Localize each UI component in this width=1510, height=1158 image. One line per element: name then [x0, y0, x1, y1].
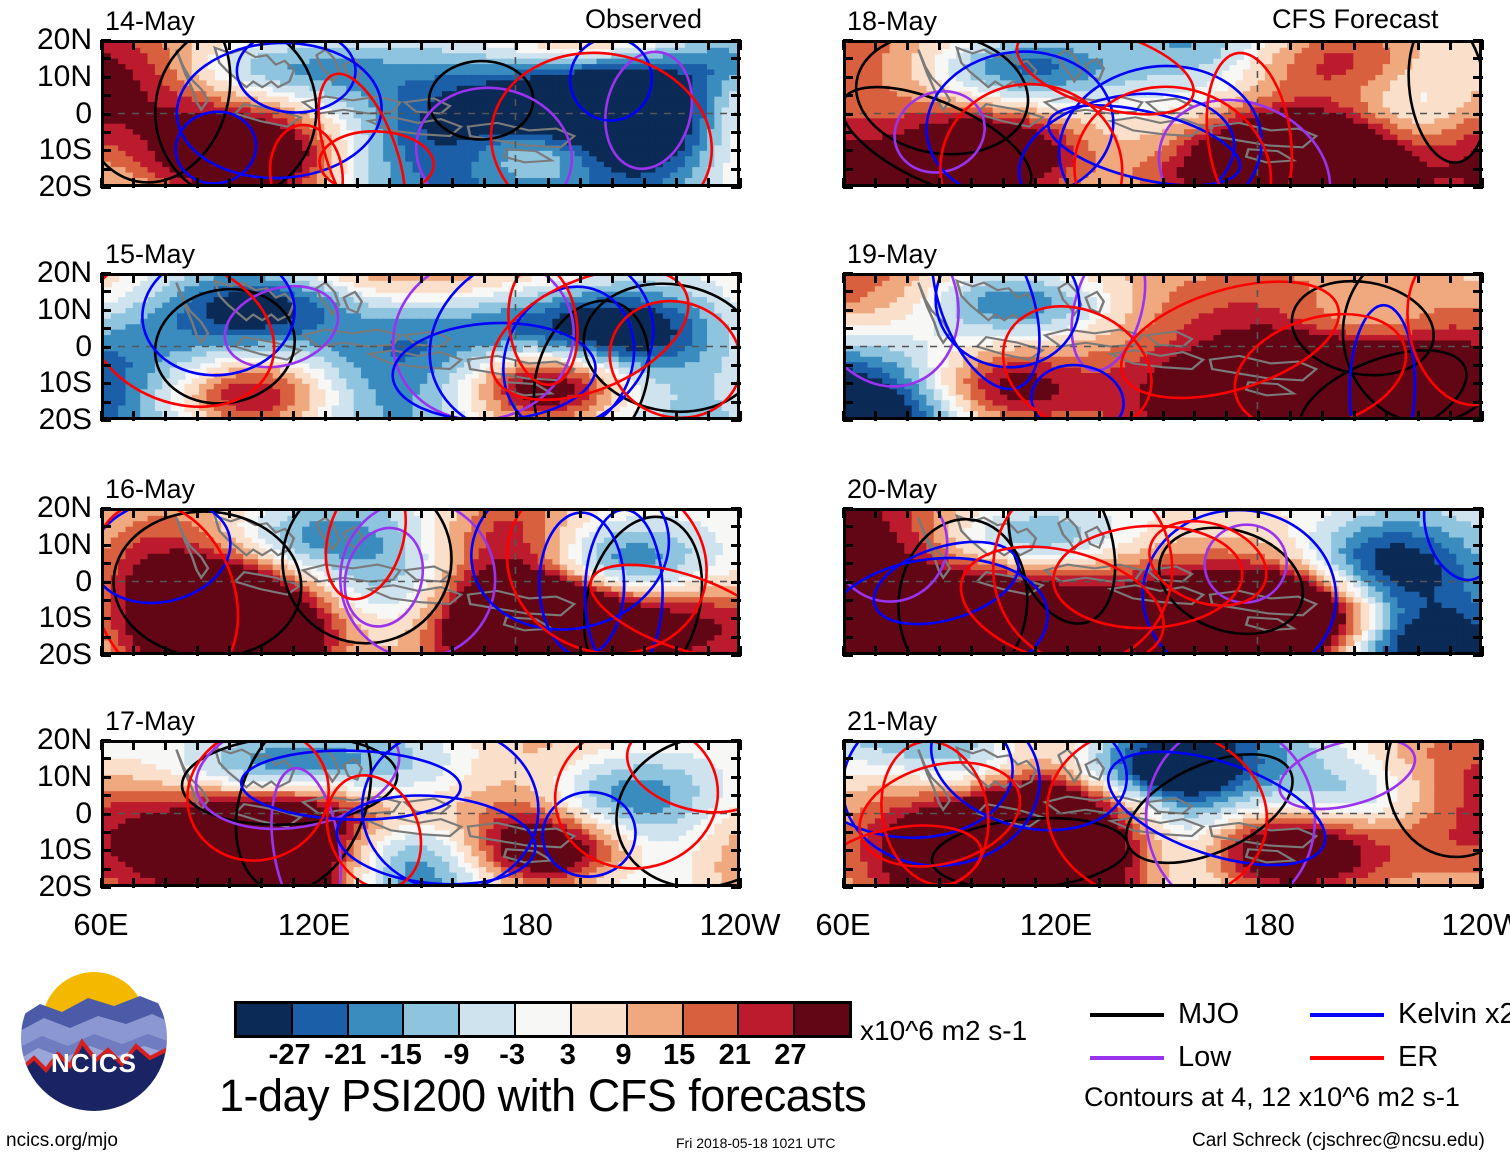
x-axis-tick	[842, 273, 845, 283]
x-axis-tick	[1481, 878, 1484, 888]
x-axis-tick	[739, 411, 742, 421]
x-axis-tick	[579, 740, 582, 750]
y-axis-tick	[1473, 290, 1483, 293]
x-axis-tick	[1034, 740, 1037, 750]
panel-date-label: 19-May	[847, 241, 937, 268]
x-axis-tick	[707, 508, 710, 518]
y-axis-tick	[101, 776, 111, 779]
y-axis-tick	[101, 149, 111, 152]
x-axis-label-180: 180	[485, 909, 569, 940]
x-axis-tick	[707, 40, 710, 50]
colorbar-tick--9: -9	[444, 1041, 470, 1070]
chart-title: 1-day PSI200 with CFS forecasts	[219, 1073, 866, 1118]
map-panel	[843, 740, 1482, 887]
x-axis-tick	[515, 508, 518, 518]
x-axis-tick	[1321, 646, 1324, 656]
x-axis-tick	[1449, 273, 1452, 283]
y-axis-tick	[843, 868, 853, 871]
x-axis-tick	[324, 740, 327, 750]
x-axis-tick	[196, 411, 199, 421]
y-axis-label-20s: 20S	[0, 405, 92, 435]
x-axis-tick	[1066, 40, 1069, 50]
x-axis-tick	[1321, 508, 1324, 518]
y-axis-label-10n: 10N	[0, 762, 92, 792]
colorbar-cell	[795, 1004, 849, 1035]
y-axis-tick	[843, 346, 853, 349]
x-axis-tick	[196, 40, 199, 50]
y-axis-label-20s: 20S	[0, 640, 92, 670]
colorbar-tick--3: -3	[499, 1041, 525, 1070]
legend-item-kelvin: Kelvin x2	[1310, 1000, 1510, 1029]
y-axis-tick	[101, 57, 111, 60]
x-axis-tick	[100, 273, 103, 283]
x-axis-tick	[547, 878, 550, 888]
y-axis-tick	[731, 562, 741, 565]
y-axis-tick	[101, 617, 111, 620]
x-axis-tick	[579, 878, 582, 888]
x-axis-tick	[1289, 178, 1292, 188]
x-axis-tick	[547, 508, 550, 518]
y-axis-tick	[843, 168, 853, 171]
y-axis-tick	[731, 525, 741, 528]
x-axis-tick	[611, 178, 614, 188]
x-axis-tick	[260, 178, 263, 188]
x-axis-tick	[1417, 40, 1420, 50]
x-axis-tick	[675, 40, 678, 50]
x-axis-tick	[388, 178, 391, 188]
x-axis-tick	[483, 411, 486, 421]
x-axis-tick	[579, 508, 582, 518]
y-axis-tick	[101, 849, 111, 852]
x-axis-tick	[388, 878, 391, 888]
x-axis-tick	[451, 508, 454, 518]
x-axis-tick	[547, 411, 550, 421]
column-header-label: Observed	[585, 6, 702, 33]
panel-date-label: 21-May	[847, 708, 937, 735]
x-axis-tick	[1353, 878, 1356, 888]
y-axis-label-10n: 10N	[0, 530, 92, 560]
x-axis-tick	[1162, 411, 1165, 421]
x-axis-tick	[643, 178, 646, 188]
y-axis-tick	[731, 382, 741, 385]
x-axis-tick	[1353, 646, 1356, 656]
x-axis-tick	[1481, 411, 1484, 421]
y-axis-tick	[1473, 401, 1483, 404]
panel-date-label: 16-May	[105, 476, 195, 503]
y-axis-tick	[843, 794, 853, 797]
x-axis-tick	[1257, 646, 1260, 656]
x-axis-tick	[164, 178, 167, 188]
column-header-label: CFS Forecast	[1272, 6, 1439, 33]
x-axis-tick	[1034, 508, 1037, 518]
x-axis-tick	[132, 273, 135, 283]
y-axis-tick	[843, 525, 853, 528]
y-axis-label-0: 0	[0, 332, 92, 362]
x-axis-tick	[1066, 878, 1069, 888]
y-axis-tick	[731, 617, 741, 620]
y-axis-tick	[843, 76, 853, 79]
y-axis-tick	[731, 544, 741, 547]
y-axis-tick	[101, 168, 111, 171]
y-axis-tick	[843, 57, 853, 60]
x-axis-tick	[515, 646, 518, 656]
colorbar-tick--21: -21	[324, 1041, 366, 1070]
x-axis-tick	[100, 878, 103, 888]
x-axis-tick	[1193, 178, 1196, 188]
x-axis-tick	[1481, 740, 1484, 750]
x-axis-tick	[1130, 273, 1133, 283]
y-axis-tick	[843, 544, 853, 547]
x-axis-tick	[938, 646, 941, 656]
x-axis-tick	[611, 878, 614, 888]
x-axis-tick	[1321, 40, 1324, 50]
x-axis-tick	[1417, 178, 1420, 188]
x-axis-tick	[1225, 740, 1228, 750]
legend-item-low: Low	[1090, 1043, 1231, 1072]
colorbar-cell	[349, 1004, 405, 1035]
x-axis-label-120e: 120E	[1014, 909, 1098, 940]
x-axis-tick	[1002, 646, 1005, 656]
x-axis-tick	[164, 508, 167, 518]
colorbar	[234, 1001, 852, 1038]
x-axis-tick	[420, 411, 423, 421]
x-axis-tick	[1162, 40, 1165, 50]
x-axis-tick	[643, 508, 646, 518]
x-axis-tick	[1130, 740, 1133, 750]
mjo-line-swatch	[1090, 1013, 1164, 1017]
x-axis-tick	[356, 508, 359, 518]
y-axis-tick	[1473, 617, 1483, 620]
x-axis-tick	[1353, 40, 1356, 50]
map-field	[104, 43, 737, 184]
x-axis-tick	[1002, 40, 1005, 50]
x-axis-tick	[1481, 178, 1484, 188]
map-panel	[101, 273, 740, 420]
y-axis-tick	[1473, 327, 1483, 330]
y-axis-label-10s: 10S	[0, 368, 92, 398]
y-axis-tick	[1473, 831, 1483, 834]
x-axis-tick	[643, 646, 646, 656]
y-axis-label-0: 0	[0, 799, 92, 829]
y-axis-label-20s: 20S	[0, 872, 92, 902]
x-axis-tick	[483, 40, 486, 50]
x-axis-tick	[515, 178, 518, 188]
x-axis-tick	[132, 178, 135, 188]
x-axis-tick	[906, 878, 909, 888]
y-axis-tick	[731, 327, 741, 330]
x-axis-tick	[938, 178, 941, 188]
x-axis-tick	[420, 646, 423, 656]
x-axis-tick	[324, 178, 327, 188]
x-axis-tick	[483, 178, 486, 188]
x-axis-tick	[260, 740, 263, 750]
x-axis-tick	[196, 508, 199, 518]
y-axis-tick	[101, 831, 111, 834]
y-axis-tick	[731, 364, 741, 367]
x-axis-tick	[970, 646, 973, 656]
x-axis-tick	[643, 740, 646, 750]
colorbar-cell	[628, 1004, 684, 1035]
y-axis-tick	[731, 57, 741, 60]
x-axis-tick	[1130, 646, 1133, 656]
x-axis-tick	[132, 646, 135, 656]
y-axis-tick	[731, 290, 741, 293]
x-axis-tick	[547, 178, 550, 188]
x-axis-tick	[228, 411, 231, 421]
x-axis-tick	[906, 740, 909, 750]
x-axis-tick	[707, 740, 710, 750]
y-axis-tick	[101, 327, 111, 330]
x-axis-tick	[1289, 40, 1292, 50]
footer-timestamp: Fri 2018-05-18 1021 UTC	[676, 1134, 836, 1153]
x-axis-tick	[1193, 646, 1196, 656]
y-axis-tick	[1473, 364, 1483, 367]
x-axis-tick	[1098, 878, 1101, 888]
colorbar-cell	[460, 1004, 516, 1035]
y-axis-tick	[843, 327, 853, 330]
y-axis-tick	[1473, 636, 1483, 639]
x-axis-tick	[1034, 273, 1037, 283]
y-axis-tick	[731, 794, 741, 797]
y-axis-tick	[1473, 131, 1483, 134]
x-axis-tick	[483, 646, 486, 656]
y-axis-tick	[101, 544, 111, 547]
y-axis-tick	[1473, 94, 1483, 97]
x-axis-tick	[420, 878, 423, 888]
x-axis-tick	[1098, 273, 1101, 283]
y-axis-tick	[731, 131, 741, 134]
panel-date-label: 17-May	[105, 708, 195, 735]
x-axis-tick	[1385, 411, 1388, 421]
y-axis-tick	[843, 849, 853, 852]
x-axis-tick	[1098, 411, 1101, 421]
x-axis-tick	[451, 411, 454, 421]
y-axis-tick	[1473, 581, 1483, 584]
y-axis-tick	[843, 131, 853, 134]
x-axis-tick	[611, 740, 614, 750]
y-axis-tick	[731, 868, 741, 871]
x-axis-tick	[1162, 878, 1165, 888]
x-axis-tick	[1066, 273, 1069, 283]
x-axis-tick	[1289, 878, 1292, 888]
x-axis-tick	[196, 178, 199, 188]
colorbar-cell	[404, 1004, 460, 1035]
legend-label-kelvin: Kelvin x2	[1398, 1000, 1510, 1029]
x-axis-tick	[707, 878, 710, 888]
x-axis-tick	[260, 273, 263, 283]
y-axis-tick	[843, 290, 853, 293]
colorbar-cell	[739, 1004, 795, 1035]
y-axis-tick	[1473, 794, 1483, 797]
x-axis-tick	[260, 411, 263, 421]
x-axis-tick	[1385, 40, 1388, 50]
x-axis-tick	[643, 411, 646, 421]
x-axis-tick	[228, 740, 231, 750]
x-axis-tick	[675, 646, 678, 656]
x-axis-tick	[906, 273, 909, 283]
x-axis-tick	[451, 646, 454, 656]
x-axis-tick	[260, 878, 263, 888]
x-axis-tick	[388, 40, 391, 50]
y-axis-tick	[101, 525, 111, 528]
x-axis-tick	[1002, 178, 1005, 188]
panel-date-label: 14-May	[105, 8, 195, 35]
x-axis-tick	[1225, 411, 1228, 421]
x-axis-tick	[356, 273, 359, 283]
x-axis-tick	[1353, 178, 1356, 188]
footer-author: Carl Schreck (cjschrec@ncsu.edu)	[1192, 1131, 1485, 1150]
x-axis-tick	[1098, 646, 1101, 656]
map-field	[104, 511, 737, 652]
x-axis-tick	[1385, 646, 1388, 656]
y-axis-label-0: 0	[0, 99, 92, 129]
x-axis-tick	[874, 740, 877, 750]
y-axis-tick	[101, 346, 111, 349]
x-axis-tick	[1449, 178, 1452, 188]
panel-date-label: 20-May	[847, 476, 937, 503]
x-axis-tick	[970, 411, 973, 421]
x-axis-tick	[1385, 273, 1388, 283]
x-axis-tick	[1385, 178, 1388, 188]
x-axis-tick	[515, 740, 518, 750]
x-axis-tick	[1002, 411, 1005, 421]
x-axis-tick	[100, 646, 103, 656]
x-axis-tick	[515, 878, 518, 888]
x-axis-tick	[1034, 646, 1037, 656]
x-axis-tick	[611, 508, 614, 518]
y-axis-label-20n: 20N	[0, 493, 92, 523]
x-axis-tick	[356, 178, 359, 188]
y-axis-tick	[101, 113, 111, 116]
x-axis-tick	[579, 411, 582, 421]
colorbar-cell	[684, 1004, 740, 1035]
x-axis-tick	[1257, 273, 1260, 283]
x-axis-tick	[842, 178, 845, 188]
x-axis-tick	[1066, 178, 1069, 188]
y-axis-tick	[731, 149, 741, 152]
x-axis-tick	[1385, 740, 1388, 750]
y-axis-tick	[843, 599, 853, 602]
y-axis-tick	[1473, 76, 1483, 79]
x-axis-tick	[611, 646, 614, 656]
y-axis-tick	[1473, 57, 1483, 60]
x-axis-tick	[1449, 40, 1452, 50]
colorbar-cell	[293, 1004, 349, 1035]
colorbar-tick-9: 9	[615, 1041, 631, 1070]
x-axis-tick	[1321, 740, 1324, 750]
x-axis-tick	[1034, 40, 1037, 50]
map-panel	[101, 508, 740, 655]
y-axis-tick	[101, 562, 111, 565]
y-axis-tick	[1473, 382, 1483, 385]
x-axis-tick	[292, 411, 295, 421]
map-field	[846, 43, 1479, 184]
map-panel	[101, 740, 740, 887]
y-axis-tick	[731, 599, 741, 602]
y-axis-tick	[731, 401, 741, 404]
x-axis-tick	[388, 273, 391, 283]
x-axis-tick	[260, 40, 263, 50]
x-axis-tick	[292, 508, 295, 518]
x-axis-tick	[970, 178, 973, 188]
map-field	[104, 276, 737, 417]
y-axis-tick	[731, 757, 741, 760]
colorbar-tick-21: 21	[719, 1041, 751, 1070]
x-axis-tick	[1481, 646, 1484, 656]
x-axis-tick	[1066, 740, 1069, 750]
footer-website[interactable]: ncics.org/mjo	[6, 1131, 118, 1150]
x-axis-tick	[100, 740, 103, 750]
x-axis-tick	[1481, 40, 1484, 50]
x-axis-tick	[1193, 273, 1196, 283]
y-axis-tick	[101, 401, 111, 404]
map-field	[104, 743, 737, 884]
x-axis-tick	[292, 178, 295, 188]
x-axis-tick	[1353, 411, 1356, 421]
x-axis-tick	[1385, 878, 1388, 888]
x-axis-tick	[1130, 178, 1133, 188]
x-axis-tick	[1257, 411, 1260, 421]
x-axis-tick	[260, 646, 263, 656]
y-axis-tick	[843, 364, 853, 367]
x-axis-tick	[196, 646, 199, 656]
map-panel	[843, 40, 1482, 187]
x-axis-tick	[1193, 411, 1196, 421]
map-panel	[101, 40, 740, 187]
x-axis-tick	[739, 178, 742, 188]
y-axis-tick	[843, 776, 853, 779]
x-axis-tick	[707, 178, 710, 188]
x-axis-tick	[292, 878, 295, 888]
y-axis-tick	[731, 776, 741, 779]
x-axis-tick	[132, 40, 135, 50]
x-axis-tick	[1130, 40, 1133, 50]
x-axis-tick	[420, 740, 423, 750]
x-axis-tick	[1225, 878, 1228, 888]
x-axis-tick	[675, 740, 678, 750]
colorbar-tick-27: 27	[774, 1041, 806, 1070]
x-axis-tick	[874, 411, 877, 421]
x-axis-tick	[164, 878, 167, 888]
y-axis-tick	[101, 794, 111, 797]
x-axis-tick	[1353, 508, 1356, 518]
x-axis-tick	[938, 273, 941, 283]
ncics-logo[interactable]	[18, 962, 170, 1114]
y-axis-label-20s: 20S	[0, 172, 92, 202]
x-axis-tick	[739, 646, 742, 656]
x-axis-tick	[906, 178, 909, 188]
y-axis-tick	[731, 309, 741, 312]
x-axis-tick	[324, 273, 327, 283]
y-axis-tick	[843, 562, 853, 565]
y-axis-tick	[843, 113, 853, 116]
x-axis-tick	[260, 508, 263, 518]
x-axis-tick	[1289, 508, 1292, 518]
x-axis-tick	[1066, 411, 1069, 421]
map-field	[846, 511, 1479, 652]
y-axis-tick	[843, 636, 853, 639]
legend-label-er: ER	[1398, 1043, 1438, 1072]
x-axis-tick	[938, 411, 941, 421]
x-axis-tick	[707, 411, 710, 421]
x-axis-tick	[906, 508, 909, 518]
y-axis-tick	[843, 617, 853, 620]
x-axis-tick	[547, 646, 550, 656]
y-axis-tick	[843, 581, 853, 584]
x-axis-tick	[906, 411, 909, 421]
y-axis-label-20n: 20N	[0, 258, 92, 288]
colorbar-cell	[572, 1004, 628, 1035]
